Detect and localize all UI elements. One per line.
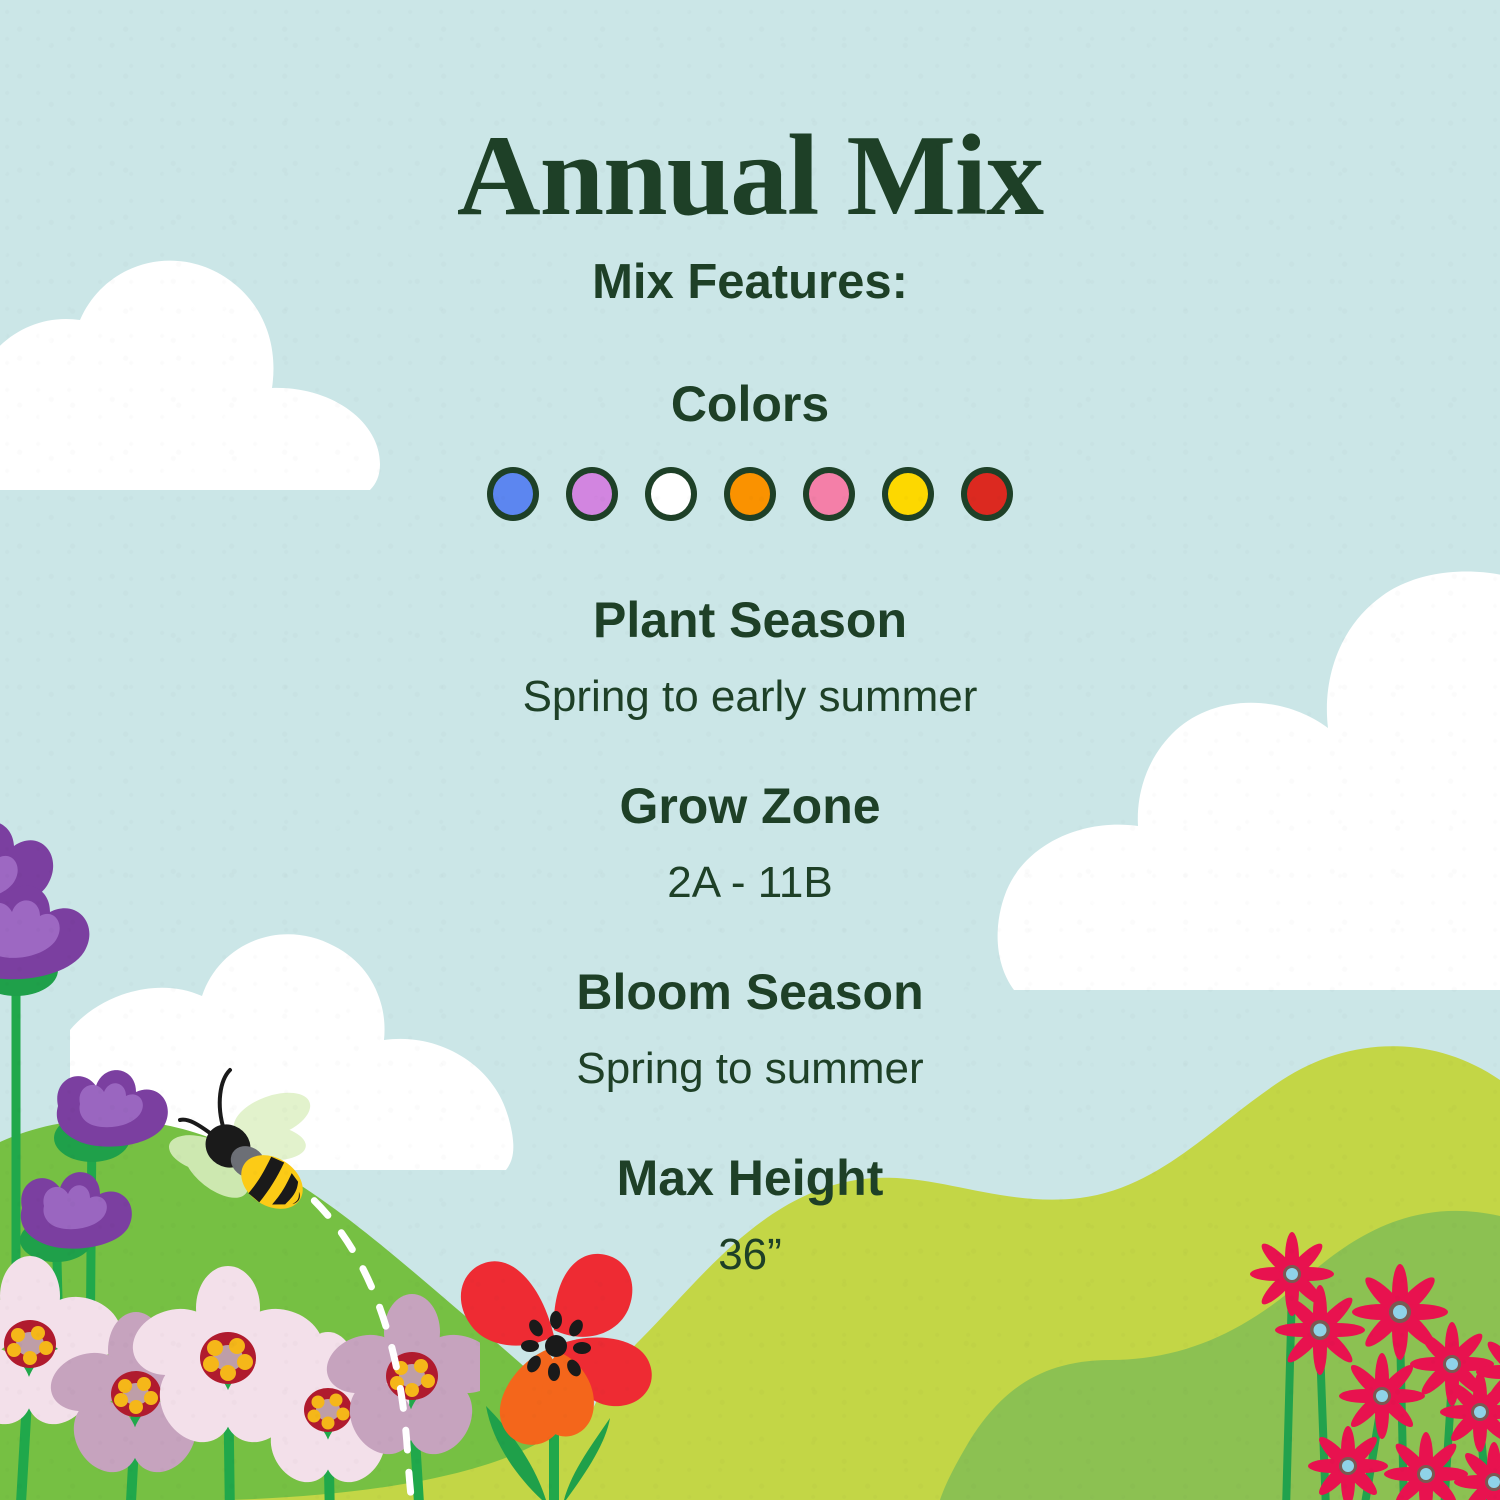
color-swatch-yellow [882,467,934,521]
color-swatch-pink [803,467,855,521]
feature-block-bloom-season: Bloom Season Spring to summer [0,905,1500,1091]
feature-block-plant-season: Plant Season Spring to early summer [0,521,1500,719]
feature-block-max-height: Max Height 36” [0,1091,1500,1277]
grow-zone-label: Grow Zone [0,781,1500,831]
bloom-season-label: Bloom Season [0,967,1500,1017]
feature-block-colors: Colors [0,307,1500,521]
color-swatch-row [0,429,1500,521]
plant-season-value: Spring to early summer [0,645,1500,719]
max-height-value: 36” [0,1203,1500,1277]
grow-zone-value: 2A - 11B [0,831,1500,905]
page-subtitle: Mix Features: [0,234,1500,307]
feature-content: Annual Mix Mix Features: Colors Plant Se… [0,0,1500,1277]
plant-season-label: Plant Season [0,595,1500,645]
page-title: Annual Mix [0,0,1500,234]
feature-block-grow-zone: Grow Zone 2A - 11B [0,719,1500,905]
product-feature-graphic: Annual Mix Mix Features: Colors Plant Se… [0,0,1500,1500]
bloom-season-value: Spring to summer [0,1017,1500,1091]
color-swatch-blue [487,467,539,521]
color-swatch-red [961,467,1013,521]
colors-label: Colors [0,379,1500,429]
color-swatch-purple [566,467,618,521]
color-swatch-white [645,467,697,521]
max-height-label: Max Height [0,1153,1500,1203]
color-swatch-orange [724,467,776,521]
